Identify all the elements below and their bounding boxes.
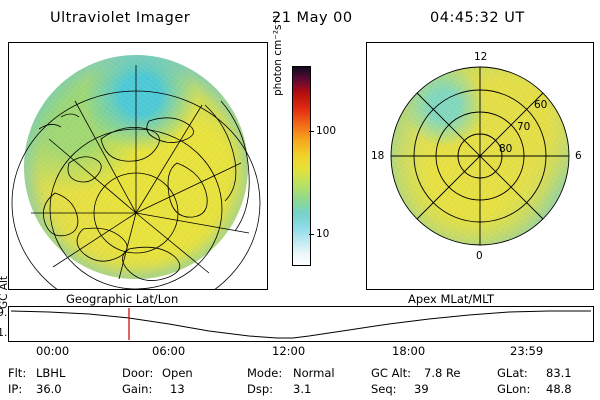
strip-x-tick-2: 12:00 [272,344,305,358]
mlt-label-12: 12 [474,51,487,63]
observation-date: 21 May 00 [272,10,353,26]
seq-label: Seq: [371,382,397,396]
colorbar [292,66,311,266]
glat-label: GLat: [497,366,528,380]
gain-value: 13 [170,382,185,396]
strip-x-tick-3: 18:00 [392,344,425,358]
gc-alt-curve [9,307,593,341]
mlat-label-60: 60 [534,99,547,111]
dsp-value: 3.1 [293,382,311,396]
flight-value: LBHL [36,366,65,380]
coastline-grid-overlay [9,43,267,289]
geographic-caption: Geographic Lat/Lon [66,292,178,306]
door-value: Open [162,366,193,380]
door-label: Door: [122,366,153,380]
geographic-image-panel [8,42,268,290]
glon-label: GLon: [497,382,530,396]
mlat-label-80: 80 [499,143,512,155]
mode-label: Mode: [247,366,282,380]
observation-time: 04:45:32 UT [430,10,525,26]
flight-label: Flt: [8,366,26,380]
mlt-label-6: 6 [575,150,582,162]
colorbar-tick-label-100: 100 [316,125,336,137]
dsp-label: Dsp: [247,382,273,396]
gain-label: Gain: [122,382,152,396]
polar-plot: 12 18 6 0 60 70 80 [367,43,593,289]
seq-value: 39 [414,382,429,396]
colorbar-tick-label-10: 10 [316,228,329,240]
colorbar-tick-10 [309,234,314,235]
colorbar-axis-label: photon cm⁻²s⁻¹ [272,80,284,96]
strip-x-tick-0: 00:00 [36,344,69,358]
ip-label: IP: [8,382,22,396]
strip-x-tick-1: 06:00 [152,344,185,358]
mode-value: Normal [293,366,335,380]
glat-value: 83.1 [546,366,572,380]
gc-alt-value: 7.8 Re [424,366,461,380]
apex-polar-panel: 12 18 6 0 60 70 80 [366,42,594,290]
glon-value: 48.8 [546,382,572,396]
mlat-label-70: 70 [517,121,530,133]
mlt-label-0: 0 [476,250,483,262]
header: Ultraviolet Imager 21 May 00 04:45:32 UT [0,6,600,30]
apex-caption: Apex MLat/MLT [408,292,494,306]
strip-x-tick-4: 23:59 [510,344,543,358]
page-title: Ultraviolet Imager [50,10,190,26]
ip-value: 36.0 [36,382,62,396]
gc-alt-label-footer: GC Alt: [371,366,411,380]
gc-alt-time-series [8,306,594,342]
mlt-label-18: 18 [371,150,384,162]
colorbar-tick-100 [309,131,314,132]
